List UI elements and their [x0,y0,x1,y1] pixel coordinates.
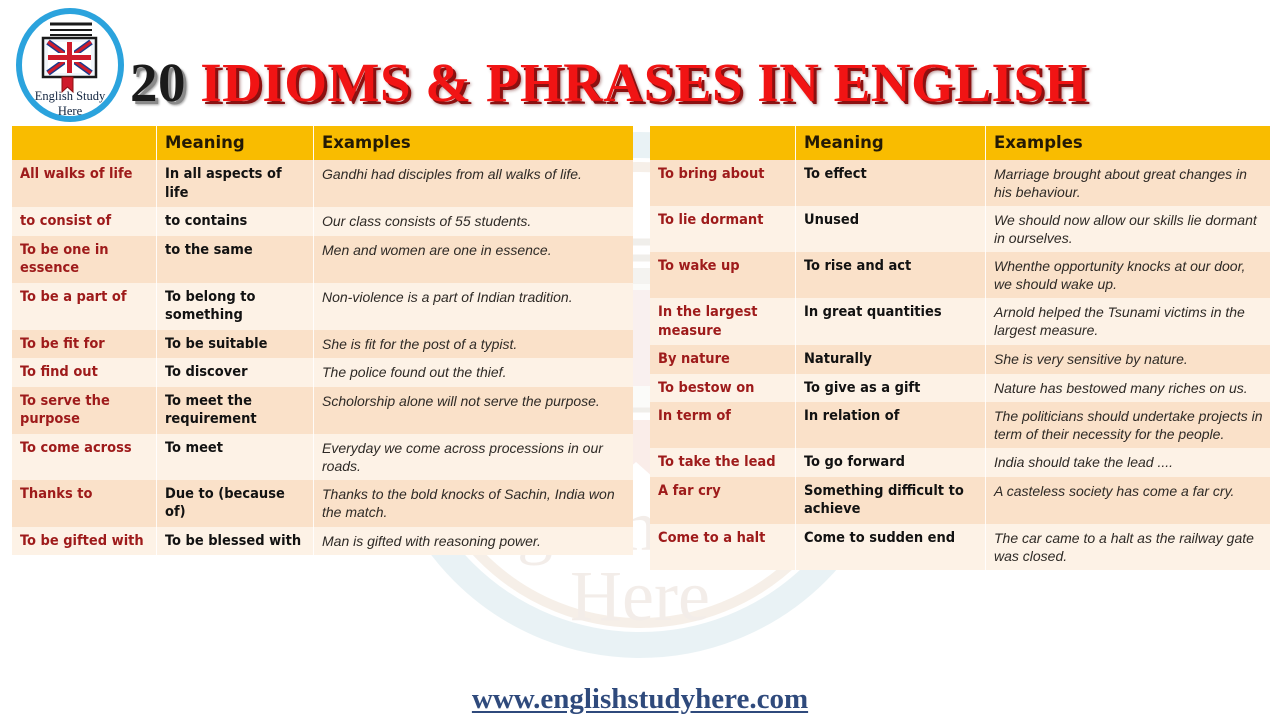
table-row: In term of In relation of The politician… [650,402,1270,448]
cell-idiom: In the largest measure [650,298,795,345]
cell-example: The police found out the thief. [313,358,633,387]
cell-meaning: to contains [156,207,313,236]
cell-idiom: In term of [650,402,795,448]
title-text: IDIOMS & PHRASES IN ENGLISH [186,52,1088,113]
cell-meaning: To be blessed with [156,527,313,556]
table-row: A far cry Something difficult to achieve… [650,477,1270,524]
table-row: To be a part of To belong to something N… [12,283,633,330]
cell-example: Non-violence is a part of Indian traditi… [313,283,633,330]
cell-idiom: To wake up [650,252,795,298]
column-header-meaning: Meaning [156,126,313,160]
page-title: 20 IDIOMS & PHRASES IN ENGLISH [130,52,1280,118]
column-header-idiom [12,126,156,160]
cell-idiom: to consist of [12,207,156,236]
idioms-table-right: Meaning Examples To bring about To effec… [650,126,1270,570]
page-header: English Study Here 20 IDIOMS & PHRASES I… [0,0,1280,126]
table-row: To be fit for To be suitable She is fit … [12,330,633,359]
cell-meaning: In all aspects of life [156,160,313,207]
cell-meaning: To be suitable [156,330,313,359]
cell-example: Man is gifted with reasoning power. [313,527,633,556]
table-row: Come to a halt Come to sudden end The ca… [650,524,1270,570]
table-row: To bestow on To give as a gift Nature ha… [650,374,1270,403]
cell-example: Our class consists of 55 students. [313,207,633,236]
cell-meaning: To belong to something [156,283,313,330]
idioms-table-left: Meaning Examples All walks of life In al… [12,126,633,555]
website-link[interactable]: www.englishstudyhere.com [462,682,818,716]
cell-meaning: to the same [156,236,313,283]
column-header-examples: Examples [313,126,633,160]
logo-line-2: Here [58,104,83,118]
cell-meaning: Due to (because of) [156,480,313,527]
table-row: By nature Naturally She is very sensitiv… [650,345,1270,374]
table-row: To wake up To rise and act Whenthe oppor… [650,252,1270,298]
cell-example: Gandhi had disciples from all walks of l… [313,160,633,207]
cell-example: The car came to a halt as the railway ga… [985,524,1270,570]
cell-idiom: Come to a halt [650,524,795,570]
idioms-infographic-page: English Study Here [0,0,1280,720]
footer: www.englishstudyhere.com [0,682,1280,716]
cell-idiom: To take the lead [650,448,795,477]
table-row: To come across To meet Everyday we come … [12,434,633,480]
cell-meaning: To rise and act [795,252,985,298]
cell-idiom: A far cry [650,477,795,524]
table-row: To find out To discover The police found… [12,358,633,387]
cell-idiom: To be fit for [12,330,156,359]
cell-idiom: To serve the purpose [12,387,156,434]
cell-example: India should take the lead .... [985,448,1270,477]
column-header-meaning: Meaning [795,126,985,160]
cell-meaning: To discover [156,358,313,387]
cell-example: The politicians should undertake project… [985,402,1270,448]
cell-meaning: In great quantities [795,298,985,345]
cell-example: Scholorship alone will not serve the pur… [313,387,633,434]
cell-idiom: To bestow on [650,374,795,403]
logo-line-1: English Study [35,89,106,103]
cell-meaning: To effect [795,160,985,206]
cell-example: She is very sensitive by nature. [985,345,1270,374]
cell-example: Whenthe opportunity knocks at our door, … [985,252,1270,298]
table-header-row: Meaning Examples [12,126,633,160]
table-row: To be one in essence to the same Men and… [12,236,633,283]
cell-example: A casteless society has come a far cry. [985,477,1270,524]
english-study-here-logo: English Study Here [10,8,130,123]
cell-meaning: In relation of [795,402,985,448]
cell-example: We should now allow our skills lie dorma… [985,206,1270,252]
column-header-examples: Examples [985,126,1270,160]
table-row: To be gifted with To be blessed with Man… [12,527,633,556]
cell-meaning: Unused [795,206,985,252]
cell-idiom: By nature [650,345,795,374]
cell-example: Arnold helped the Tsunami victims in the… [985,298,1270,345]
cell-meaning: Naturally [795,345,985,374]
table-header-row: Meaning Examples [650,126,1270,160]
column-header-idiom [650,126,795,160]
union-jack-icon [48,42,91,73]
cell-idiom: To lie dormant [650,206,795,252]
cell-example: Marriage brought about great changes in … [985,160,1270,206]
table-row: To bring about To effect Marriage brough… [650,160,1270,206]
table-row: To lie dormant Unused We should now allo… [650,206,1270,252]
cell-example: Men and women are one in essence. [313,236,633,283]
table-row: To serve the purpose To meet the require… [12,387,633,434]
cell-meaning: To give as a gift [795,374,985,403]
cell-meaning: Something difficult to achieve [795,477,985,524]
table-row: Thanks to Due to (because of) Thanks to … [12,480,633,527]
title-count: 20 [130,52,186,113]
cell-example: Everyday we come across processions in o… [313,434,633,480]
cell-meaning: Come to sudden end [795,524,985,570]
table-row: In the largest measure In great quantiti… [650,298,1270,345]
table-row: All walks of life In all aspects of life… [12,160,633,207]
cell-idiom: Thanks to [12,480,156,527]
table-row: To take the lead To go forward India sho… [650,448,1270,477]
cell-example: Thanks to the bold knocks of Sachin, Ind… [313,480,633,527]
cell-meaning: To meet the requirement [156,387,313,434]
cell-meaning: To meet [156,434,313,480]
cell-idiom: To come across [12,434,156,480]
cell-idiom: To be one in essence [12,236,156,283]
cell-idiom: To find out [12,358,156,387]
cell-meaning: To go forward [795,448,985,477]
cell-idiom: All walks of life [12,160,156,207]
cell-example: She is fit for the post of a typist. [313,330,633,359]
table-row: to consist of to contains Our class cons… [12,207,633,236]
cell-idiom: To bring about [650,160,795,206]
cell-example: Nature has bestowed many riches on us. [985,374,1270,403]
cell-idiom: To be a part of [12,283,156,330]
cell-idiom: To be gifted with [12,527,156,556]
